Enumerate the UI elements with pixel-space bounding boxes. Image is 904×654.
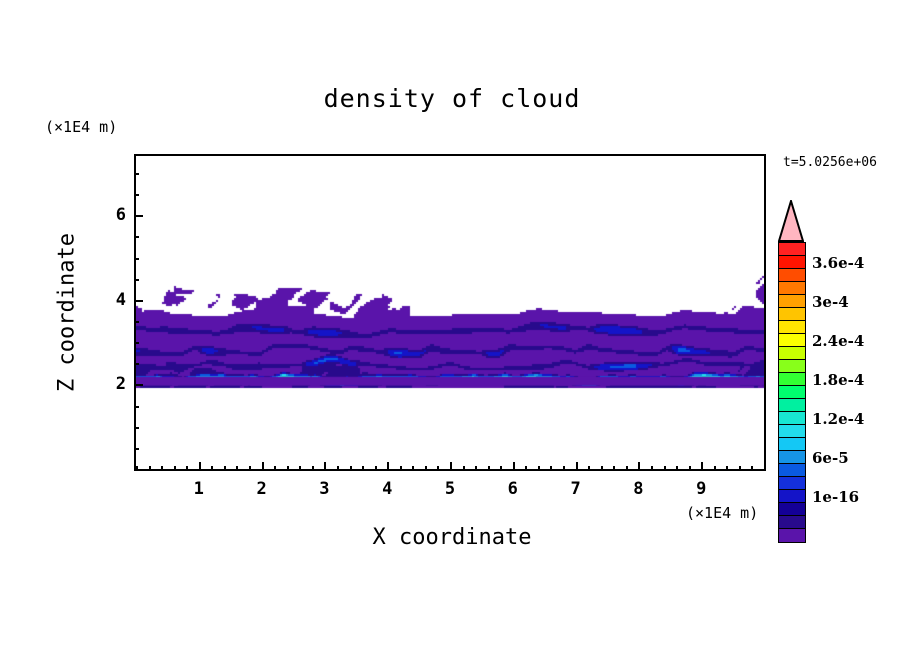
colorbar-band xyxy=(779,464,805,477)
colorbar-band xyxy=(779,399,805,412)
colorbar-tick-label: 1.8e-4 xyxy=(812,371,864,389)
colorbar-band xyxy=(779,503,805,516)
x-tick-label: 3 xyxy=(319,479,329,499)
x-tick-label: 5 xyxy=(445,479,455,499)
colorbar-band xyxy=(779,347,805,360)
contour-field-canvas xyxy=(136,156,764,469)
x-axis-title: X coordinate xyxy=(0,525,904,550)
x-tick-label: 8 xyxy=(633,479,643,499)
colorbar-band xyxy=(779,295,805,308)
y-tick-label: 6 xyxy=(74,205,126,225)
colorbar-band xyxy=(779,321,805,334)
colorbar-band xyxy=(779,516,805,529)
colorbar-band xyxy=(779,529,805,542)
colorbar-tick-label: 3.6e-4 xyxy=(812,254,864,272)
colorbar-tick-label: 6e-5 xyxy=(812,449,849,467)
colorbar-band xyxy=(779,269,805,282)
colorbar-band xyxy=(779,334,805,347)
colorbar-band xyxy=(779,412,805,425)
colorbar-tick-label: 1.2e-4 xyxy=(812,410,864,428)
y-axis-units-label: (×1E4 m) xyxy=(45,118,117,136)
colorbar-band xyxy=(779,438,805,451)
x-tick-label: 9 xyxy=(696,479,706,499)
colorbar-band xyxy=(779,451,805,464)
colorbar-band xyxy=(779,386,805,399)
colorbar-band xyxy=(779,477,805,490)
y-axis-title: Z coordinate xyxy=(55,213,80,413)
colorbar-tick-label: 3e-4 xyxy=(812,293,849,311)
y-tick-label: 2 xyxy=(74,374,126,394)
x-tick-label: 6 xyxy=(508,479,518,499)
chart-title: density of cloud xyxy=(0,84,904,113)
colorbar-arrow-outline xyxy=(778,200,804,242)
colorbar-band xyxy=(779,360,805,373)
colorbar-band xyxy=(779,256,805,269)
colorbar-band xyxy=(779,282,805,295)
x-tick-label: 7 xyxy=(570,479,580,499)
colorbar-band xyxy=(779,425,805,438)
colorbar-band xyxy=(779,373,805,386)
colorbar-band xyxy=(779,490,805,503)
y-axis-tick-labels: 246 xyxy=(74,154,126,471)
contour-plot-area xyxy=(134,154,766,471)
colorbar-tick-label: 1e-16 xyxy=(812,488,859,506)
x-tick-label: 1 xyxy=(194,479,204,499)
colorbar-tick-label: 2.4e-4 xyxy=(812,332,864,350)
time-annotation: t=5.0256e+06 xyxy=(783,155,877,170)
x-tick-label: 4 xyxy=(382,479,392,499)
colorbar xyxy=(778,242,806,543)
colorbar-band xyxy=(779,243,805,256)
x-axis-units-label: (×1E4 m) xyxy=(686,504,758,522)
x-axis-tick-labels: 123456789 xyxy=(134,475,766,505)
colorbar-band xyxy=(779,308,805,321)
y-tick-label: 4 xyxy=(74,290,126,310)
x-tick-label: 2 xyxy=(256,479,266,499)
